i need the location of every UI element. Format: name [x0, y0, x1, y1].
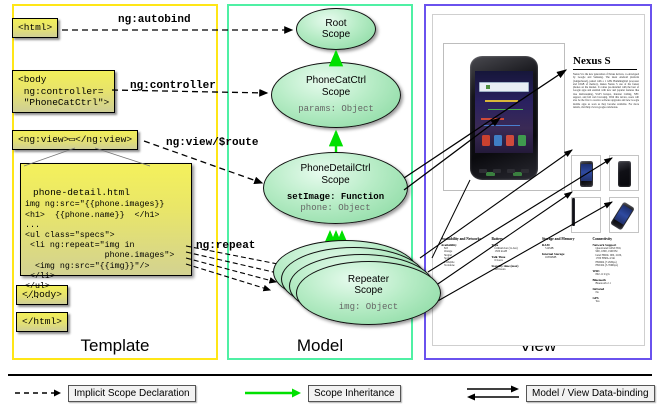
thumb-side-icon: [572, 198, 575, 226]
panel-label-template: Template: [12, 336, 218, 418]
product-title-rule: [573, 69, 637, 70]
spec-header-2: Storage and Memory: [542, 237, 591, 241]
diagram-root: Template Model View <html> <body ng:cont…: [0, 0, 660, 420]
legend-label-implicit: Implicit Scope Declaration: [68, 385, 196, 402]
scope-repeater-prop-img: img: Object: [339, 302, 398, 313]
product-description: Nexus S is the new generation of Nexus d…: [573, 73, 639, 109]
thumbnail-phone-side[interactable]: [571, 197, 601, 233]
spec-value-0-0-5: Vodafone: [441, 264, 490, 267]
legend-double-arrow-icon: [466, 384, 520, 402]
legend-item-inheritance: Scope Inheritance: [244, 384, 401, 402]
scope-phonedetailctrl-title: PhoneDetailCtrl Scope: [300, 163, 370, 186]
thumb-front-icon: [580, 161, 593, 187]
spec-value-1-2-0: 428 hours: [492, 268, 541, 271]
hero-phone-urlbar: [479, 82, 529, 93]
label-ng-view-route: ng:view/$route: [166, 137, 258, 149]
scope-phonedetailctrl: PhoneDetailCtrl Scope setImage: Function…: [263, 152, 408, 224]
spec-table: Availability and Networks Availability M…: [441, 237, 641, 303]
label-ng-controller: ng:controller: [130, 80, 216, 92]
spec-value-1-0-1: 1500 mAH: [492, 250, 541, 253]
legend-divider: [8, 374, 652, 376]
hero-phone-dock: [480, 128, 528, 146]
scope-root: Root Scope: [296, 8, 376, 50]
panel-label-view: View: [424, 336, 652, 418]
hero-image-frame: [443, 43, 565, 191]
hero-phone-screen: [475, 71, 532, 153]
spec-value-3-4-0: Yes: [593, 300, 642, 303]
code-body-open-tag: <body ng:controller= "PhoneCatCtrl">: [12, 70, 115, 113]
legend-item-implicit: Implicit Scope Declaration: [14, 384, 196, 402]
thumb-tilt-icon: [610, 202, 635, 231]
spec-header-3: Connectivity: [593, 237, 642, 241]
label-ng-autobind: ng:autobind: [118, 14, 191, 26]
template-partial-filename: phone-detail.html: [25, 186, 187, 199]
code-ngview-tag: <ng:view>▭</ng:view>: [12, 130, 138, 150]
scope-phonecatctrl-title: PhoneCatCtrl Scope: [306, 75, 366, 98]
spec-header-1: Battery: [492, 237, 541, 241]
scope-root-title: Root Scope: [322, 18, 350, 41]
legend-item-databinding: Model / View Data-binding: [466, 384, 655, 402]
hero-phone-line-4: [482, 125, 520, 126]
spec-header-0: Availability and Networks: [441, 237, 490, 241]
spec-value-3-1-0: 802.11 b/g/n: [593, 273, 642, 276]
label-ng-repeat: ng:repeat: [196, 240, 255, 252]
code-html-open-tag: <html>: [12, 18, 58, 38]
rendered-view-page: Nexus S Nexus S is the new generation of…: [432, 14, 645, 346]
spec-column-availability: Availability and Networks Availability M…: [441, 237, 490, 303]
legend-label-inheritance: Scope Inheritance: [308, 385, 401, 402]
template-partial-note: phone-detail.htmlimg ng:src="{{phone.ima…: [20, 163, 192, 276]
hero-phone-line-3: [481, 118, 504, 119]
legend-green-arrow-icon: [244, 387, 302, 399]
template-partial-code: img ng:src="{{phone.images}} <h1> {{phon…: [25, 200, 174, 301]
thumb-back-icon: [618, 161, 631, 187]
product-title: Nexus S: [573, 55, 611, 67]
thumbnail-phone-back[interactable]: [609, 155, 639, 191]
hero-phone-navbar: [475, 166, 532, 176]
panel-label-model: Model: [227, 336, 413, 418]
scope-repeater-title: Repeater Scope: [348, 274, 389, 297]
spec-column-connectivity: Connectivity Network Support Quad-band G…: [593, 237, 642, 303]
hero-phone-image: [470, 56, 538, 180]
thumbnail-phone-tilted[interactable]: [609, 197, 639, 233]
hero-phone-line-1: [485, 100, 518, 101]
spec-value-3-0-5: HSUPA (5.76Mbps): [593, 264, 642, 267]
scope-phonedetailctrl-prop-phone: phone: Object: [300, 203, 370, 214]
spec-value-3-3-0: No: [593, 291, 642, 294]
scope-phonedetailctrl-prop-setimage: setImage: Function: [287, 192, 384, 203]
spec-value-1-1-0: 6 hours: [492, 259, 541, 262]
spec-value-2-1-0: 16384MB: [542, 256, 591, 259]
scope-phonecatctrl-prop-params: params: Object: [298, 104, 374, 115]
spec-value-3-2-0: Bluetooth 2.1: [593, 282, 642, 285]
hero-phone-line-2: [488, 109, 523, 110]
legend-dashed-arrow-icon: [14, 387, 62, 399]
thumbnail-phone-front[interactable]: [571, 155, 601, 191]
scope-repeater: Repeater Scope img: Object: [296, 261, 441, 325]
spec-column-storage: Storage and Memory RAM 512MB Internal St…: [542, 237, 591, 303]
scope-phonecatctrl: PhoneCatCtrl Scope params: Object: [271, 62, 401, 128]
legend-label-databinding: Model / View Data-binding: [526, 385, 655, 402]
spec-value-2-0-0: 512MB: [542, 247, 591, 250]
spec-column-battery: Battery Type Lithium Ion (Li-Ion) 1500 m…: [492, 237, 541, 303]
code-html-close-tag: </html>: [16, 312, 68, 332]
